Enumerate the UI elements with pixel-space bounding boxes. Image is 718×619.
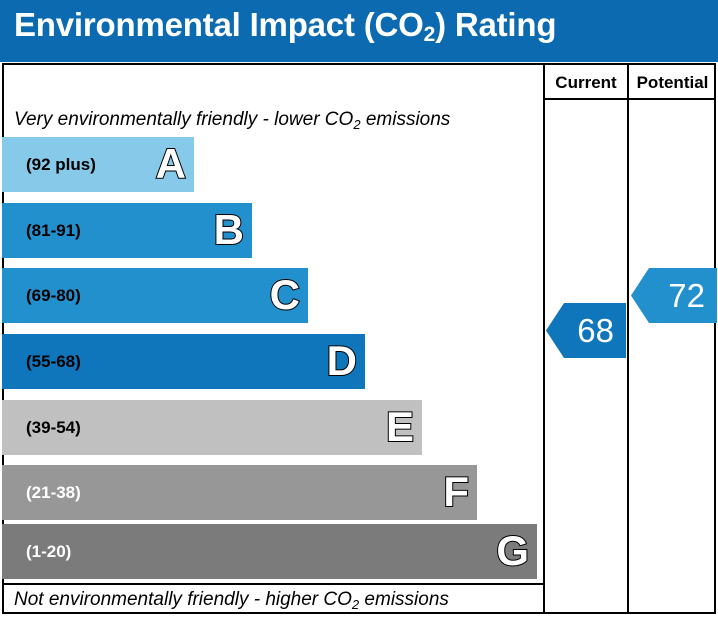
rating-band-b: (81-91)B	[2, 203, 252, 258]
column-header-potential: Potential	[629, 70, 716, 96]
rating-band-e: (39-54)E	[2, 400, 422, 455]
column-divider-current	[543, 63, 545, 614]
rating-value-current: 68	[577, 303, 614, 358]
caption-bottom-prefix: Not environmentally friendly - higher CO	[14, 589, 352, 610]
page-title: Environmental Impact (CO2) Rating	[14, 6, 556, 44]
band-range-label: (1-20)	[26, 524, 71, 579]
page-title-suffix: ) Rating	[435, 6, 556, 43]
caption-top-prefix: Very environmentally friendly - lower CO	[14, 109, 353, 130]
band-letter-a: A	[156, 137, 186, 192]
rating-band-g: (1-20)G	[2, 524, 537, 579]
rating-band-a: (92 plus)A	[2, 137, 194, 192]
column-header-current: Current	[545, 70, 627, 96]
column-divider-potential	[627, 63, 629, 614]
caption-bottom-subscript: 2	[352, 597, 359, 612]
band-range-label: (21-38)	[26, 465, 81, 520]
bottom-caption-divider	[2, 583, 543, 585]
band-range-label: (81-91)	[26, 203, 81, 258]
page-title-subscript: 2	[424, 23, 435, 46]
band-letter-g: G	[496, 524, 529, 579]
caption-top: Very environmentally friendly - lower CO…	[14, 109, 450, 131]
rating-value-potential: 72	[668, 268, 705, 323]
rating-band-c: (69-80)C	[2, 268, 308, 323]
caption-bottom-suffix: emissions	[359, 589, 449, 610]
caption-top-subscript: 2	[353, 117, 360, 132]
epc-environmental-impact-chart: Environmental Impact (CO2) Rating Curren…	[0, 0, 718, 619]
band-letter-f: F	[443, 465, 469, 520]
band-range-label: (69-80)	[26, 268, 81, 323]
rating-band-d: (55-68)D	[2, 334, 365, 389]
rating-arrow-potential: 72	[631, 268, 717, 323]
band-letter-c: C	[270, 268, 300, 323]
band-range-label: (39-54)	[26, 400, 81, 455]
band-letter-e: E	[386, 400, 414, 455]
band-letter-d: D	[327, 334, 357, 389]
page-title-prefix: Environmental Impact (CO	[14, 6, 424, 43]
chart-title-bar: Environmental Impact (CO2) Rating	[0, 0, 718, 62]
caption-bottom: Not environmentally friendly - higher CO…	[14, 589, 449, 611]
caption-top-suffix: emissions	[361, 109, 451, 130]
rating-band-f: (21-38)F	[2, 465, 477, 520]
band-range-label: (55-68)	[26, 334, 81, 389]
band-range-label: (92 plus)	[26, 137, 96, 192]
band-letter-b: B	[214, 203, 244, 258]
header-row-divider	[543, 98, 716, 100]
